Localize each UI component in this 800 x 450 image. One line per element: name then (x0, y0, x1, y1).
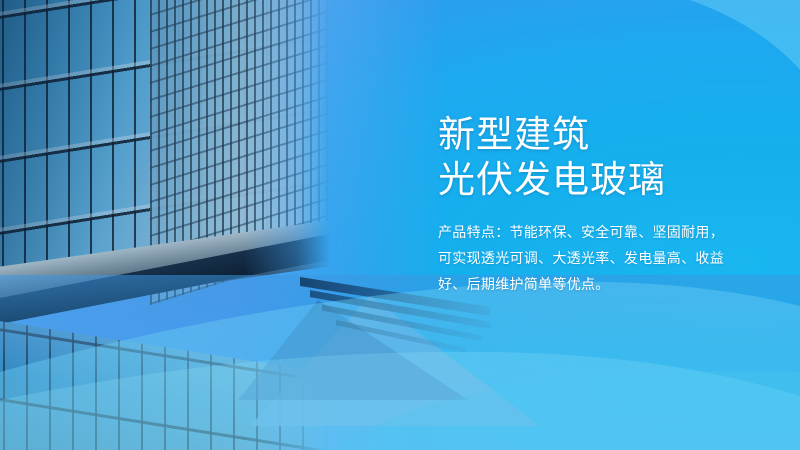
page-title-line-2: 光伏发电玻璃 (438, 157, 758, 202)
promo-banner: 新型建筑 光伏发电玻璃 产品特点：节能环保、安全可靠、坚固耐用，可实现透光可调、… (0, 0, 800, 450)
copy-block: 新型建筑 光伏发电玻璃 产品特点：节能环保、安全可靠、坚固耐用，可实现透光可调、… (438, 112, 758, 297)
product-description: 产品特点：节能环保、安全可靠、坚固耐用，可实现透光可调、大透光率、发电量高、收益… (438, 219, 733, 297)
wave-path-top (690, 0, 800, 70)
page-title-line-1: 新型建筑 (438, 112, 758, 157)
